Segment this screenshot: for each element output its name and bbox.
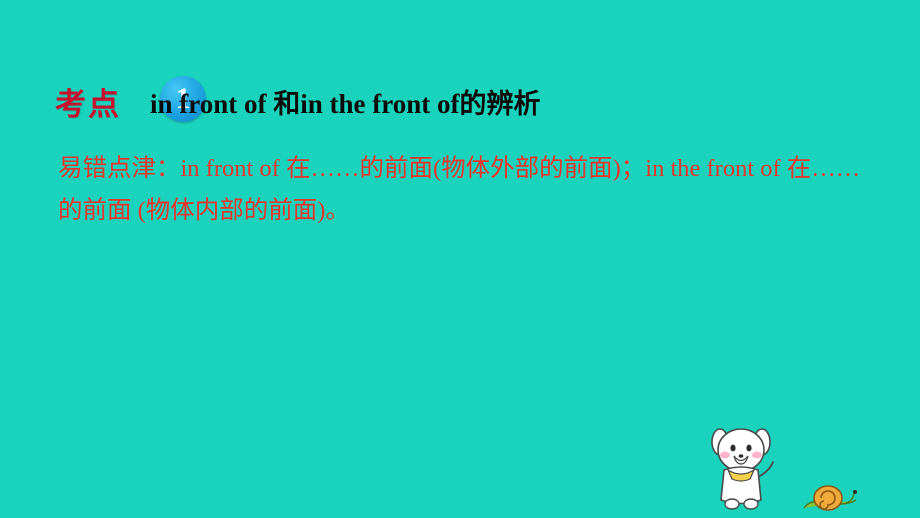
page-title: in front of 和in the front of的辨析 (150, 82, 541, 121)
heading-prefix-label: 考点 (55, 79, 121, 124)
body-paragraph: 易错点津：in front of 在……的前面(物体外部的前面)；in the … (58, 148, 870, 232)
heading-row: 考点 (55, 78, 121, 124)
slide-canvas: 考点 1 in front of 和in the front of的辨析 易错点… (0, 0, 920, 518)
snail-mascot-icon (800, 480, 862, 514)
dog-mascot-icon (706, 420, 776, 512)
